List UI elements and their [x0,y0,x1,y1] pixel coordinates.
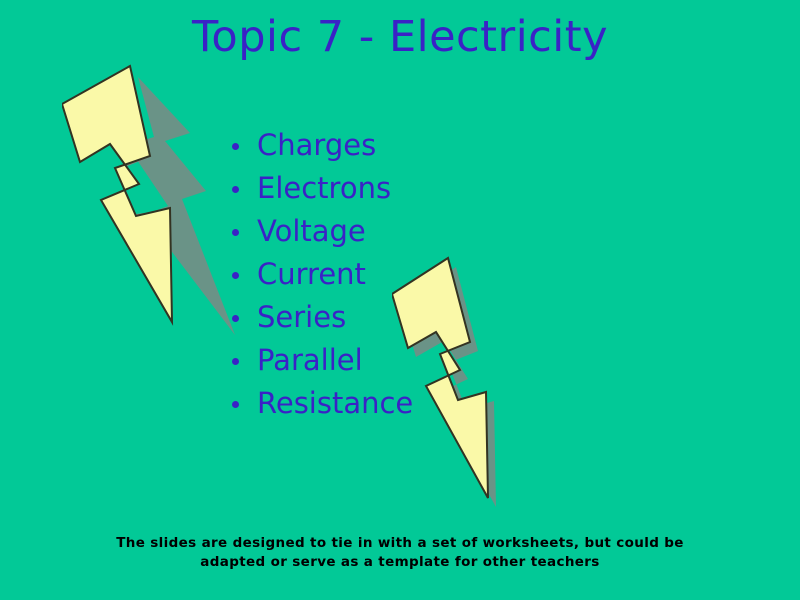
footer-note: The slides are designed to tie in with a… [60,534,740,572]
bullet-list: Charges Electrons Voltage Current Series… [228,124,648,425]
footer-line-1: The slides are designed to tie in with a… [60,534,740,553]
list-item: Charges [228,124,648,167]
slide-title: Topic 7 - Electricity [0,12,800,62]
list-item-label: Series [257,300,346,334]
list-item: Series [228,296,648,339]
bullet-dot-icon [232,272,239,279]
presentation-slide: Topic 7 - Electricity Charges Electrons … [0,0,800,600]
list-item-label: Current [257,257,366,291]
bullet-dot-icon [232,229,239,236]
bullet-dot-icon [232,401,239,408]
list-item: Current [228,253,648,296]
list-item: Electrons [228,167,648,210]
bullet-dot-icon [232,143,239,150]
list-item: Voltage [228,210,648,253]
bullet-dot-icon [232,186,239,193]
list-item-label: Voltage [257,214,366,248]
lightning-bolt-icon [62,58,252,338]
list-item-label: Charges [257,128,376,162]
list-item: Resistance [228,382,648,425]
bullet-dot-icon [232,358,239,365]
list-item-label: Parallel [257,343,363,377]
list-item-label: Electrons [257,171,391,205]
list-item-label: Resistance [257,386,413,420]
bullet-dot-icon [232,315,239,322]
list-item: Parallel [228,339,648,382]
footer-line-2: adapted or serve as a template for other… [60,553,740,572]
